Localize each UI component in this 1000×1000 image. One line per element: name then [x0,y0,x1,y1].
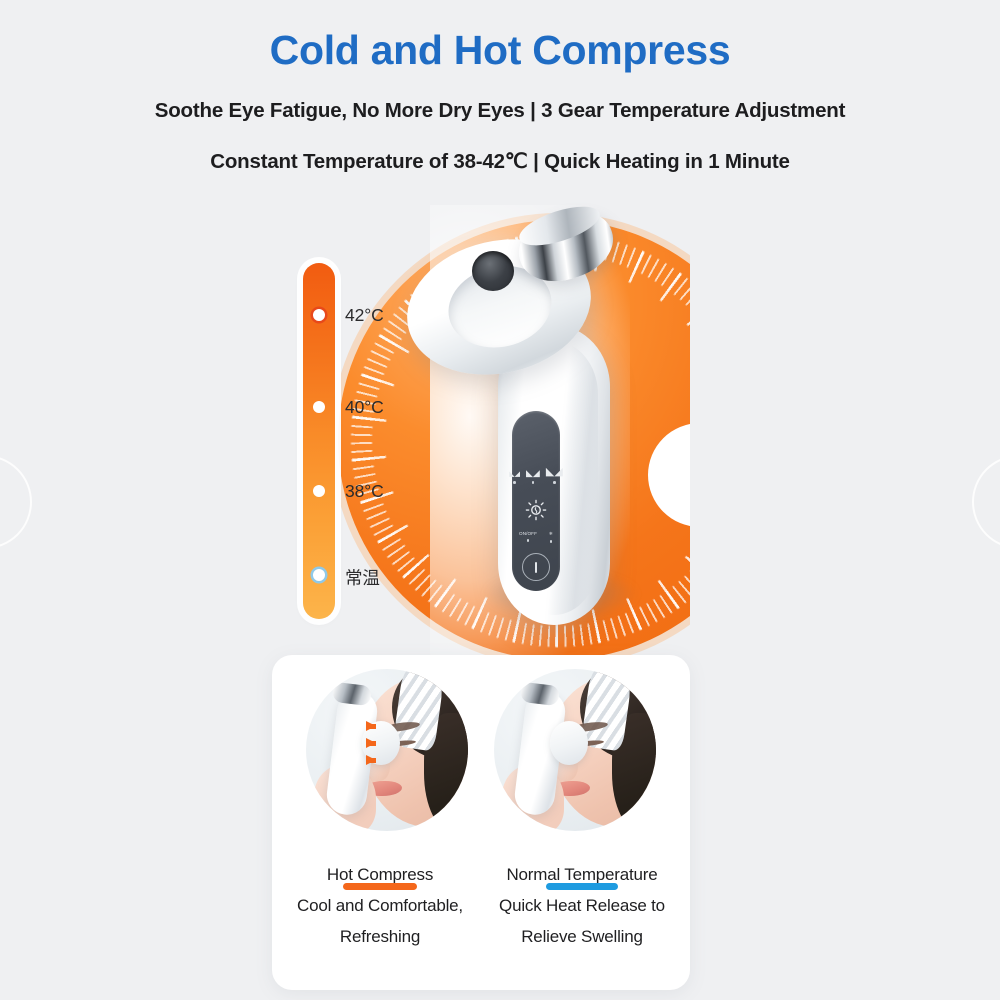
caption-hot-compress: Hot Compress Cool and Comfortable, Refre… [291,860,469,953]
power-icon[interactable] [522,553,550,581]
caption-line: Quick Heat Release to [493,891,671,922]
caption-underline-orange [343,883,417,890]
photo-hot-compress [306,669,468,831]
sun-heat-icon [525,499,547,521]
heat-arrows-icon [366,721,376,765]
subtitle-line-1: Soothe Eye Fatigue, No More Dry Eyes | 3… [0,73,1000,123]
photo-normal-temperature [494,669,656,831]
product-feature-page: Cold and Hot Compress Soothe Eye Fatigue… [0,0,1000,1000]
header: Cold and Hot Compress Soothe Eye Fatigue… [0,0,1000,174]
device-chrome-cap-top [515,199,604,253]
subtitle-line-2: Constant Temperature of 38-42℃ | Quick H… [0,123,1000,174]
wave-medium-icon: ◣◢ [526,469,540,484]
mode-cool-label: ❄ [549,531,553,537]
wave-small-icon: ◣◢ [509,471,520,484]
mode-on-off-pip [527,539,530,542]
hero-stage: 42°C 40°C 38°C 常温 ◣◢ ◣◢ ◣◢ [0,205,1000,675]
temperature-marker-40[interactable] [313,401,325,413]
usage-photos [272,669,690,831]
device-nozzle-hole [472,251,514,291]
usage-card: Hot Compress Cool and Comfortable, Refre… [272,655,690,990]
temperature-label-normal: 常温 [345,565,380,590]
usage-captions: Hot Compress Cool and Comfortable, Refre… [272,860,690,953]
mode-cool-pip [550,540,553,543]
wave-large-icon: ◣◢ [546,467,563,484]
eye-massager-device: ◣◢ ◣◢ ◣◢ [400,205,700,675]
page-title: Cold and Hot Compress [0,0,1000,73]
mode-on-off-label: ON/OFF [519,531,537,536]
temperature-marker-38[interactable] [313,485,325,497]
mode-labels: ON/OFF ❄ [512,531,560,543]
temperature-label-40: 40°C [345,397,384,418]
caption-line: Cool and Comfortable, [291,891,469,922]
mode-cool[interactable]: ❄ [549,531,553,543]
caption-underline-blue [546,883,618,890]
photo-device-cup [550,721,588,765]
caption-normal-temperature: Normal Temperature Quick Heat Release to… [493,860,671,953]
temperature-label-42: 42°C [345,305,384,326]
caption-line: Relieve Swelling [493,922,671,953]
gear-level-indicators: ◣◢ ◣◢ ◣◢ [512,467,560,484]
device-control-panel[interactable]: ◣◢ ◣◢ ◣◢ [512,411,560,591]
temperature-marker-normal[interactable] [313,569,325,581]
mode-on-off[interactable]: ON/OFF [519,531,537,543]
temperature-marker-42[interactable] [313,309,325,321]
temperature-label-38: 38°C [345,481,384,502]
temperature-scale-bar [303,263,335,619]
caption-line: Refreshing [291,922,469,953]
